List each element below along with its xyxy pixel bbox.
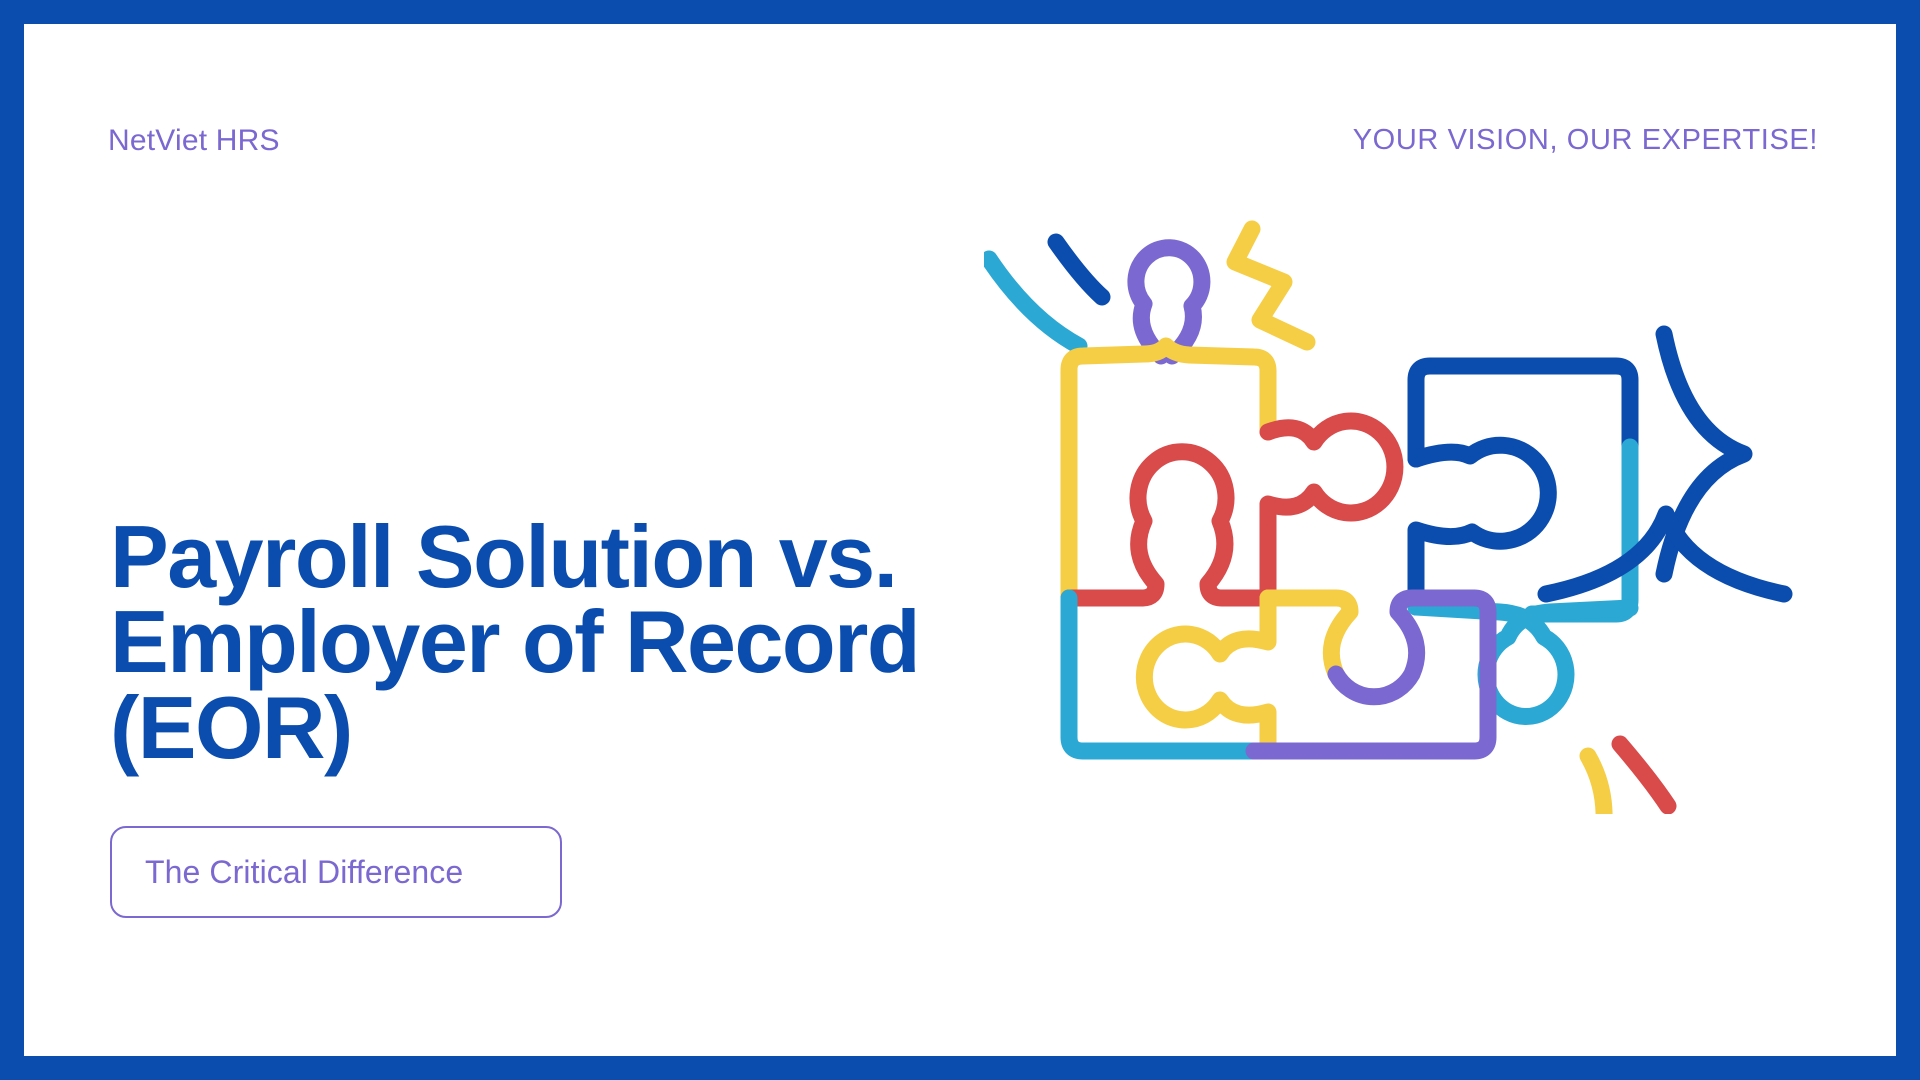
brand-logo-text: NetViet HRS [108, 124, 280, 158]
tagline-text: YOUR VISION, OUR EXPERTISE! [1353, 124, 1818, 157]
puzzle-pieces-illustration [984, 194, 1914, 814]
slide-root: NetViet HRS YOUR VISION, OUR EXPERTISE! … [0, 0, 1920, 1080]
headline-block: Payroll Solution vs. Employer of Record … [110, 514, 970, 770]
subtitle-pill: The Critical Difference [110, 826, 562, 918]
piece-top-left [1069, 248, 1395, 598]
piece-bottom-right [1254, 598, 1488, 751]
slide-canvas: NetViet HRS YOUR VISION, OUR EXPERTISE! … [24, 24, 1896, 1056]
accent-red-arc-icon [1620, 744, 1668, 806]
accent-cyan-arc-icon [989, 259, 1079, 346]
piece-bottom-left [1069, 598, 1268, 751]
headline-line-2: Employer of Record [110, 599, 970, 684]
headline-line-3: (EOR) [110, 685, 970, 770]
subtitle-pill-label: The Critical Difference [145, 854, 463, 891]
page-title: Payroll Solution vs. Employer of Record … [110, 514, 970, 770]
accent-blue-arc-icon [1056, 242, 1102, 297]
accent-yellow-zigzag-icon [1235, 229, 1307, 342]
piece-detached-top-right [1416, 366, 1630, 717]
headline-line-1: Payroll Solution vs. [110, 514, 970, 599]
accent-yellow-arc-icon [1588, 756, 1604, 814]
